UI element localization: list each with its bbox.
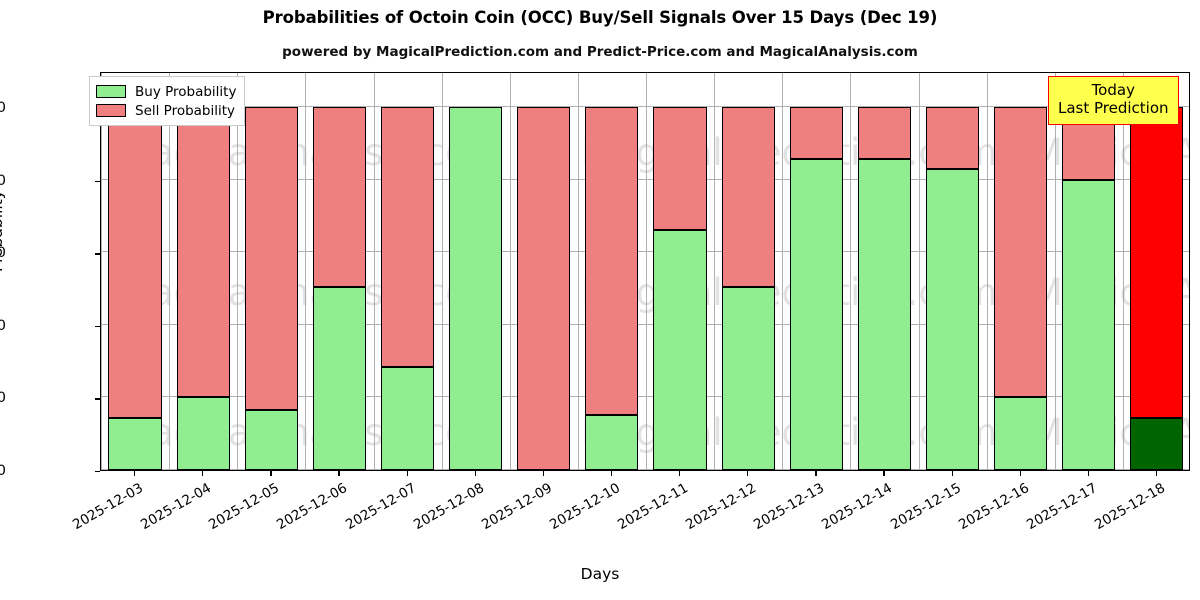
legend-item[interactable]: Sell Probability xyxy=(96,101,236,120)
x-tick-mark xyxy=(543,471,544,476)
y-tick-mark xyxy=(95,398,100,399)
bar-segment-sell[interactable] xyxy=(858,107,911,159)
today-annotation-line1: Today xyxy=(1058,81,1169,99)
bar-group[interactable] xyxy=(313,72,366,470)
bar-segment-sell[interactable] xyxy=(926,107,979,169)
legend-label: Buy Probability xyxy=(135,84,236,100)
bar-segment-sell[interactable] xyxy=(108,107,161,418)
bar-segment-sell[interactable] xyxy=(313,107,366,287)
x-tick-mark xyxy=(1020,471,1021,476)
x-tick-mark xyxy=(270,471,271,476)
y-tick-label-40: 40 xyxy=(0,318,6,334)
y-tick-mark xyxy=(95,326,100,327)
y-tick-label-100: 100 xyxy=(0,100,6,116)
bar-segment-buy[interactable] xyxy=(381,367,434,470)
bar-segment-buy[interactable] xyxy=(858,159,911,470)
bar-segment-sell[interactable] xyxy=(177,107,230,397)
chart-legend: Buy ProbabilitySell Probability xyxy=(89,76,245,126)
bar-segment-sell[interactable] xyxy=(790,107,843,159)
chart-title: Probabilities of Octoin Coin (OCC) Buy/S… xyxy=(0,8,1200,27)
bar-group[interactable] xyxy=(722,72,775,470)
bar-segment-buy[interactable] xyxy=(108,418,161,470)
bar-group[interactable] xyxy=(517,72,570,470)
bar-segment-sell[interactable] xyxy=(1130,107,1183,418)
bar-segment-sell[interactable] xyxy=(585,107,638,414)
bar-group[interactable] xyxy=(926,72,979,470)
x-tick-mark xyxy=(679,471,680,476)
plot-area: MagicalAnalysis.comMagicalPrediction.com… xyxy=(100,72,1190,471)
bar-group[interactable] xyxy=(994,72,1047,470)
x-tick-mark xyxy=(611,471,612,476)
legend-label: Sell Probability xyxy=(135,103,235,119)
today-annotation-line2: Last Prediction xyxy=(1058,99,1169,117)
legend-item[interactable]: Buy Probability xyxy=(96,82,236,101)
x-tick-mark xyxy=(134,471,135,476)
bar-segment-buy[interactable] xyxy=(926,169,979,470)
y-tick-label-0: 0 xyxy=(0,463,6,479)
y-tick-label-20: 20 xyxy=(0,390,6,406)
x-tick-mark xyxy=(883,471,884,476)
bar-group[interactable] xyxy=(790,72,843,470)
bar-group[interactable] xyxy=(858,72,911,470)
bars-layer xyxy=(101,73,1189,470)
bar-segment-buy[interactable] xyxy=(177,397,230,470)
bar-segment-sell[interactable] xyxy=(381,107,434,366)
x-tick-mark xyxy=(475,471,476,476)
x-tick-mark xyxy=(202,471,203,476)
bar-segment-buy[interactable] xyxy=(722,287,775,470)
chart-figure: Probabilities of Octoin Coin (OCC) Buy/S… xyxy=(0,0,1200,600)
x-tick-mark xyxy=(747,471,748,476)
bar-segment-buy[interactable] xyxy=(653,230,706,470)
x-tick-mark xyxy=(407,471,408,476)
bar-group[interactable] xyxy=(585,72,638,470)
y-axis-label: Probability xyxy=(0,190,6,272)
bar-segment-buy[interactable] xyxy=(994,397,1047,470)
bar-group[interactable] xyxy=(381,72,434,470)
legend-swatch-icon xyxy=(96,85,126,98)
bar-segment-sell[interactable] xyxy=(722,107,775,287)
bar-segment-buy[interactable] xyxy=(1062,180,1115,470)
bar-segment-buy[interactable] xyxy=(790,159,843,470)
bar-segment-buy[interactable] xyxy=(245,410,298,470)
bar-group[interactable] xyxy=(1062,72,1115,470)
legend-swatch-icon xyxy=(96,104,126,117)
chart-subtitle: powered by MagicalPrediction.com and Pre… xyxy=(0,44,1200,60)
x-axis-label: Days xyxy=(0,565,1200,583)
bar-segment-buy[interactable] xyxy=(1130,418,1183,470)
bar-segment-sell[interactable] xyxy=(653,107,706,229)
bar-segment-sell[interactable] xyxy=(517,107,570,470)
bar-group[interactable] xyxy=(245,72,298,470)
x-tick-mark xyxy=(815,471,816,476)
bar-segment-buy[interactable] xyxy=(313,287,366,470)
x-tick-mark xyxy=(1088,471,1089,476)
bar-group[interactable] xyxy=(1130,72,1183,470)
bar-segment-buy[interactable] xyxy=(585,415,638,470)
bar-group[interactable] xyxy=(108,72,161,470)
bar-segment-sell[interactable] xyxy=(245,107,298,410)
x-tick-mark xyxy=(1156,471,1157,476)
bar-segment-buy[interactable] xyxy=(449,107,502,470)
bar-segment-sell[interactable] xyxy=(994,107,1047,397)
y-tick-mark xyxy=(95,253,100,254)
bar-group[interactable] xyxy=(449,72,502,470)
y-tick-mark xyxy=(95,471,100,472)
bar-group[interactable] xyxy=(653,72,706,470)
x-tick-mark xyxy=(952,471,953,476)
y-tick-mark xyxy=(95,181,100,182)
today-annotation: Today Last Prediction xyxy=(1048,76,1179,125)
bar-group[interactable] xyxy=(177,72,230,470)
x-tick-mark xyxy=(338,471,339,476)
y-tick-label-80: 80 xyxy=(0,173,6,189)
